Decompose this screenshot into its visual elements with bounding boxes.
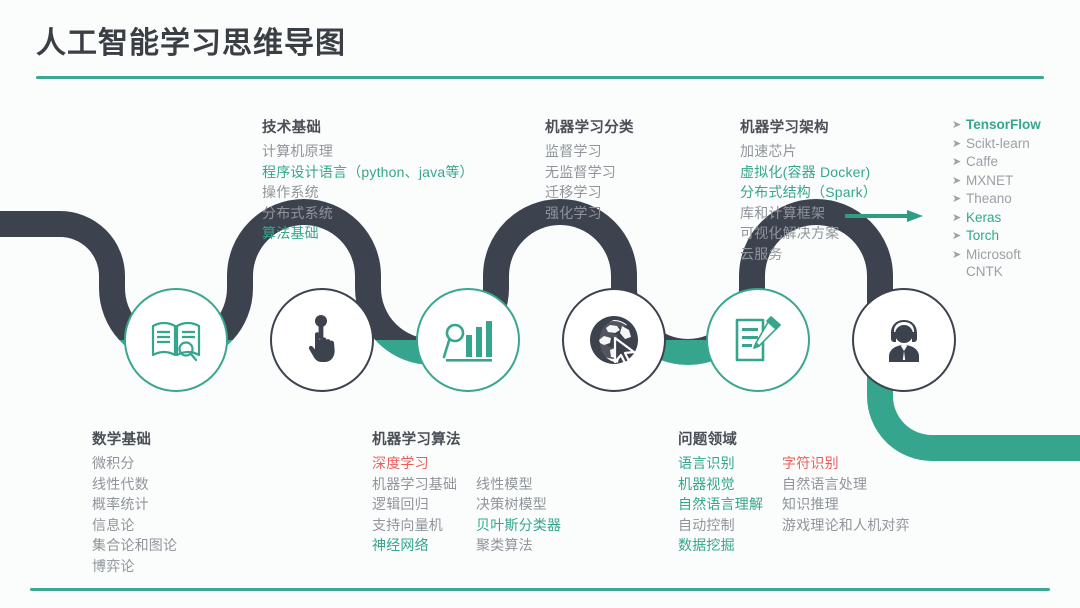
highlight-item: 深度学习 (372, 453, 561, 474)
arrow-bullet-icon: ➤ (952, 153, 966, 172)
frameworks-list: ➤ TensorFlow ➤ Scikt-learn ➤ Caffe ➤ MXN… (952, 116, 1041, 279)
node-ml-architecture[interactable] (852, 288, 956, 392)
list-item: 支持向量机 (372, 515, 476, 536)
book-search-icon (149, 315, 203, 365)
list-item: 算法基础 (262, 223, 474, 244)
block-heading: 机器学习算法 (372, 428, 561, 449)
list-item: 博弈论 (92, 556, 177, 577)
block-heading: 数学基础 (92, 428, 177, 449)
list-item: 线性代数 (92, 474, 177, 495)
list-item: 线性模型 (476, 474, 561, 495)
block-math-basics: 数学基础 微积分 线性代数 概率统计 信息论 集合论和图论 博弈论 (92, 428, 177, 576)
framework-label: TensorFlow (966, 116, 1041, 135)
framework-label-continuation: CNTK (966, 264, 1041, 279)
list-item: 分布式系统 (262, 203, 474, 224)
list-item: 可视化解决方案 (740, 223, 877, 244)
block-tech-basics: 技术基础 计算机原理 程序设计语言（python、java等） 操作系统 分布式… (262, 116, 474, 244)
block-ml-types: 机器学习分类 监督学习 无监督学习 迁移学习 强化学习 (545, 116, 634, 223)
list-item: 语言识别 (678, 453, 782, 474)
list-item: 虚拟化(容器 Docker) (740, 162, 877, 183)
block-heading: 技术基础 (262, 116, 474, 137)
two-column-list: 机器学习基础 逻辑回归 支持向量机 神经网络 线性模型 决策树模型 贝叶斯分类器… (372, 474, 561, 556)
framework-label: Torch (966, 227, 999, 246)
arrow-bullet-icon: ➤ (952, 172, 966, 191)
block-heading: 问题领域 (678, 428, 910, 449)
framework-label: Microsoft (966, 246, 1021, 265)
hand-tap-icon (301, 314, 343, 366)
arrow-right-icon (845, 209, 923, 223)
list-item: 操作系统 (262, 182, 474, 203)
list-item: 程序设计语言（python、java等） (262, 162, 474, 183)
block-ml-algorithms: 机器学习算法 深度学习 机器学习基础 逻辑回归 支持向量机 神经网络 线性模型 … (372, 428, 561, 556)
list-item: 自然语言处理 (782, 474, 910, 495)
list-item: 加速芯片 (740, 141, 877, 162)
list-item: 强化学习 (545, 203, 634, 224)
node-tech-basics[interactable] (270, 288, 374, 392)
framework-label: Caffe (966, 153, 998, 172)
list-item: 概率统计 (92, 494, 177, 515)
mindmap-canvas: 人工智能学习思维导图 (0, 0, 1080, 608)
list-item: 自动控制 (678, 515, 782, 536)
list-item: 游戏理论和人机对弈 (782, 515, 910, 536)
framework-label: Keras (966, 209, 1001, 228)
document-pencil-icon (733, 315, 783, 365)
list-item: 数据挖掘 (678, 535, 782, 556)
arrow-bullet-icon: ➤ (952, 190, 966, 209)
block-problem-domains: 问题领域 语言识别 机器视觉 自然语言理解 自动控制 数据挖掘 字符识别 自然语… (678, 428, 910, 556)
list-item: ➤ Keras (952, 209, 1041, 228)
list-item: ➤ Microsoft (952, 246, 1041, 265)
list-item: 计算机原理 (262, 141, 474, 162)
list-item: 决策树模型 (476, 494, 561, 515)
arrow-bullet-icon: ➤ (952, 135, 966, 154)
arrow-bullet-icon: ➤ (952, 116, 966, 135)
list-item: 机器学习基础 (372, 474, 476, 495)
arrow-bullet-icon: ➤ (952, 209, 966, 228)
arrow-bullet-icon: ➤ (952, 246, 966, 265)
list-item: 字符识别 (782, 453, 910, 474)
list-item: ➤ Torch (952, 227, 1041, 246)
node-ml-types[interactable] (562, 288, 666, 392)
framework-label: MXNET (966, 172, 1013, 191)
list-item: 逻辑回归 (372, 494, 476, 515)
bar-chart-search-icon (442, 315, 494, 365)
list-item: 云服务 (740, 244, 877, 265)
list-item: 信息论 (92, 515, 177, 536)
list-item: ➤ Theano (952, 190, 1041, 209)
list-item: 集合论和图论 (92, 535, 177, 556)
list-item: 聚类算法 (476, 535, 561, 556)
list-item: 监督学习 (545, 141, 634, 162)
list-item: 分布式结构（Spark） (740, 182, 877, 203)
header-divider (36, 76, 1044, 79)
block-heading: 机器学习分类 (545, 116, 634, 137)
column-left: 语言识别 机器视觉 自然语言理解 自动控制 数据挖掘 (678, 453, 782, 556)
page-title: 人工智能学习思维导图 (36, 18, 346, 62)
node-math-basics[interactable] (124, 288, 228, 392)
person-headset-icon (879, 315, 929, 365)
column-right: 字符识别 自然语言处理 知识推理 游戏理论和人机对弈 (782, 453, 910, 556)
list-item: 迁移学习 (545, 182, 634, 203)
framework-label: Theano (966, 190, 1012, 209)
list-item: ➤ TensorFlow (952, 116, 1041, 135)
list-item: ➤ Caffe (952, 153, 1041, 172)
list-item: ➤ MXNET (952, 172, 1041, 191)
list-item: 自然语言理解 (678, 494, 782, 515)
footer-divider (30, 588, 1050, 591)
arrow-bullet-icon: ➤ (952, 227, 966, 246)
globe-cursor-icon (588, 314, 640, 366)
column-left: 机器学习基础 逻辑回归 支持向量机 神经网络 (372, 474, 476, 556)
two-column-list: 语言识别 机器视觉 自然语言理解 自动控制 数据挖掘 字符识别 自然语言处理 知… (678, 453, 910, 556)
block-ml-architecture: 机器学习架构 加速芯片 虚拟化(容器 Docker) 分布式结构（Spark） … (740, 116, 877, 264)
list-item: 神经网络 (372, 535, 476, 556)
framework-label: Scikt-learn (966, 135, 1030, 154)
block-heading: 机器学习架构 (740, 116, 877, 137)
list-item: 贝叶斯分类器 (476, 515, 561, 536)
list-item: 机器视觉 (678, 474, 782, 495)
list-item: 知识推理 (782, 494, 910, 515)
list-item: 无监督学习 (545, 162, 634, 183)
list-item: ➤ Scikt-learn (952, 135, 1041, 154)
node-ml-algorithms[interactable] (416, 288, 520, 392)
node-problem-domains[interactable] (706, 288, 810, 392)
column-right: 线性模型 决策树模型 贝叶斯分类器 聚类算法 (476, 474, 561, 556)
list-item: 微积分 (92, 453, 177, 474)
